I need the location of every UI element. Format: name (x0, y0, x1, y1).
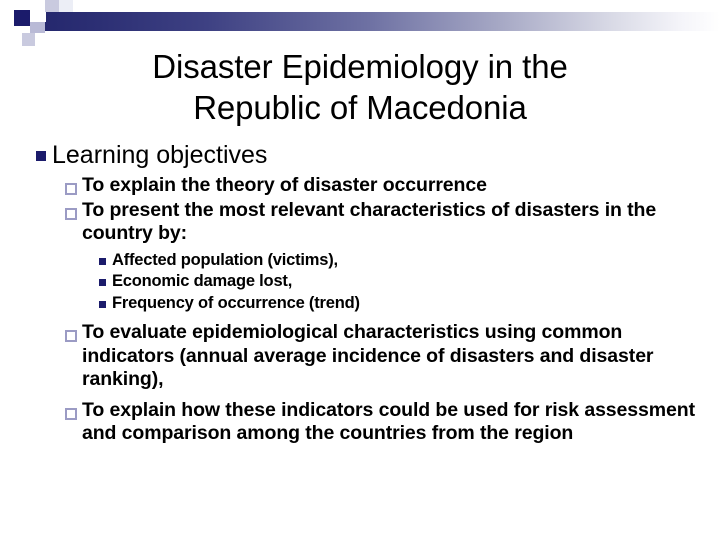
bullet-level2-label: To explain how these indicators could be… (82, 399, 706, 446)
hollow-square-bullet-icon (60, 399, 82, 420)
bullet-level3-economic-damage: Economic damage lost, (94, 271, 706, 293)
title-line-1: Disaster Epidemiology in the (36, 46, 684, 87)
bullet-level3-label: Frequency of occurrence (trend) (112, 293, 360, 315)
bullet-level2-label: To explain the theory of disaster occurr… (82, 174, 487, 198)
slide-title: Disaster Epidemiology in the Republic of… (36, 46, 684, 128)
bullet-level2-objective-2: To present the most relevant characteris… (60, 199, 706, 246)
small-square-bullet-icon (94, 293, 112, 308)
small-square-bullet-icon (94, 271, 112, 286)
small-square-bullet-icon (94, 250, 112, 265)
bullet-level3-affected-population: Affected population (victims), (94, 250, 706, 272)
bullet-level1-learning-objectives: Learning objectives (28, 140, 706, 170)
bullet-level3-label: Economic damage lost, (112, 271, 292, 293)
deco-square-white-overlay (30, 0, 46, 22)
bullet-level3-frequency-occurrence: Frequency of occurrence (trend) (94, 293, 706, 315)
bullet-level3-label: Affected population (victims), (112, 250, 338, 272)
bullet-level2-objective-3: To evaluate epidemiological characterist… (60, 321, 706, 392)
deco-square-lavender-d (0, 0, 14, 30)
hollow-square-bullet-icon (60, 199, 82, 220)
header-gradient-bar (45, 12, 720, 31)
hollow-square-bullet-icon (60, 321, 82, 342)
slide-body: Learning objectives To explain the theor… (28, 140, 706, 447)
square-bullet-icon (28, 140, 52, 161)
deco-square-navy-large (14, 10, 30, 26)
deco-square-pale-e (59, 0, 73, 12)
bullet-level2-objective-4: To explain how these indicators could be… (60, 399, 706, 446)
presentation-slide: Disaster Epidemiology in the Republic of… (0, 0, 720, 540)
deco-square-lavender-c (22, 33, 35, 46)
bullet-level2-label: To present the most relevant characteris… (82, 199, 706, 246)
header-decoration (0, 0, 720, 48)
bullet-level2-label: To evaluate epidemiological characterist… (82, 321, 706, 392)
deco-square-lavender-a (30, 22, 45, 33)
hollow-square-bullet-icon (60, 174, 82, 195)
title-line-2: Republic of Macedonia (36, 87, 684, 128)
bullet-level1-label: Learning objectives (52, 140, 267, 170)
bullet-level2-objective-1: To explain the theory of disaster occurr… (60, 174, 706, 198)
